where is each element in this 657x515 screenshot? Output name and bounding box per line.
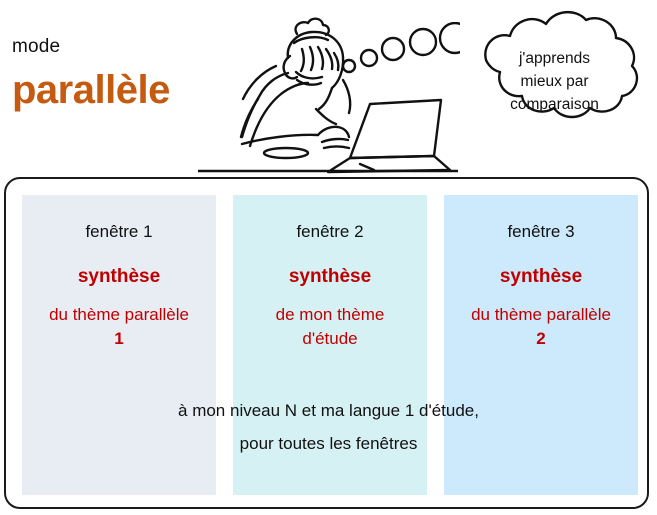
main-panel: fenêtre 1 synthèse du thème parallèle 1 … (4, 177, 649, 509)
column-1-title: fenêtre 1 (22, 221, 216, 243)
thought-bubble: j'apprends mieux par comparaison (452, 4, 657, 152)
column-2-title: fenêtre 2 (233, 221, 427, 243)
column-1-headline: synthèse (22, 265, 216, 289)
column-3-sub-line-2: 2 (536, 329, 545, 348)
column-2-headline: synthèse (233, 265, 427, 289)
window-column-1[interactable]: fenêtre 1 synthèse du thème parallèle 1 (22, 195, 216, 495)
windows-columns: fenêtre 1 synthèse du thème parallèle 1 … (22, 195, 638, 495)
column-2-sub-line-2: d'étude (302, 329, 357, 348)
window-column-2[interactable]: fenêtre 2 synthèse de mon thème d'étude (233, 195, 427, 495)
column-3-sub-line-1: du thème parallèle (471, 305, 611, 324)
column-1-sub-line-1: du thème parallèle (49, 305, 189, 324)
column-3-subtitle: du thème parallèle 2 (444, 303, 638, 351)
column-3-title: fenêtre 3 (444, 221, 638, 243)
header-area: mode parallèle (0, 0, 657, 175)
mode-label: mode (12, 36, 60, 58)
column-2-subtitle: de mon thème d'étude (233, 303, 427, 351)
window-column-3[interactable]: fenêtre 3 synthèse du thème parallèle 2 (444, 195, 638, 495)
column-2-sub-line-1: de mon thème (276, 305, 385, 324)
column-1-sub-line-2: 1 (114, 329, 123, 348)
column-1-subtitle: du thème parallèle 1 (22, 303, 216, 351)
thought-trail-dots (340, 22, 460, 82)
page-title: parallèle (12, 68, 170, 113)
column-3-headline: synthèse (444, 265, 638, 289)
